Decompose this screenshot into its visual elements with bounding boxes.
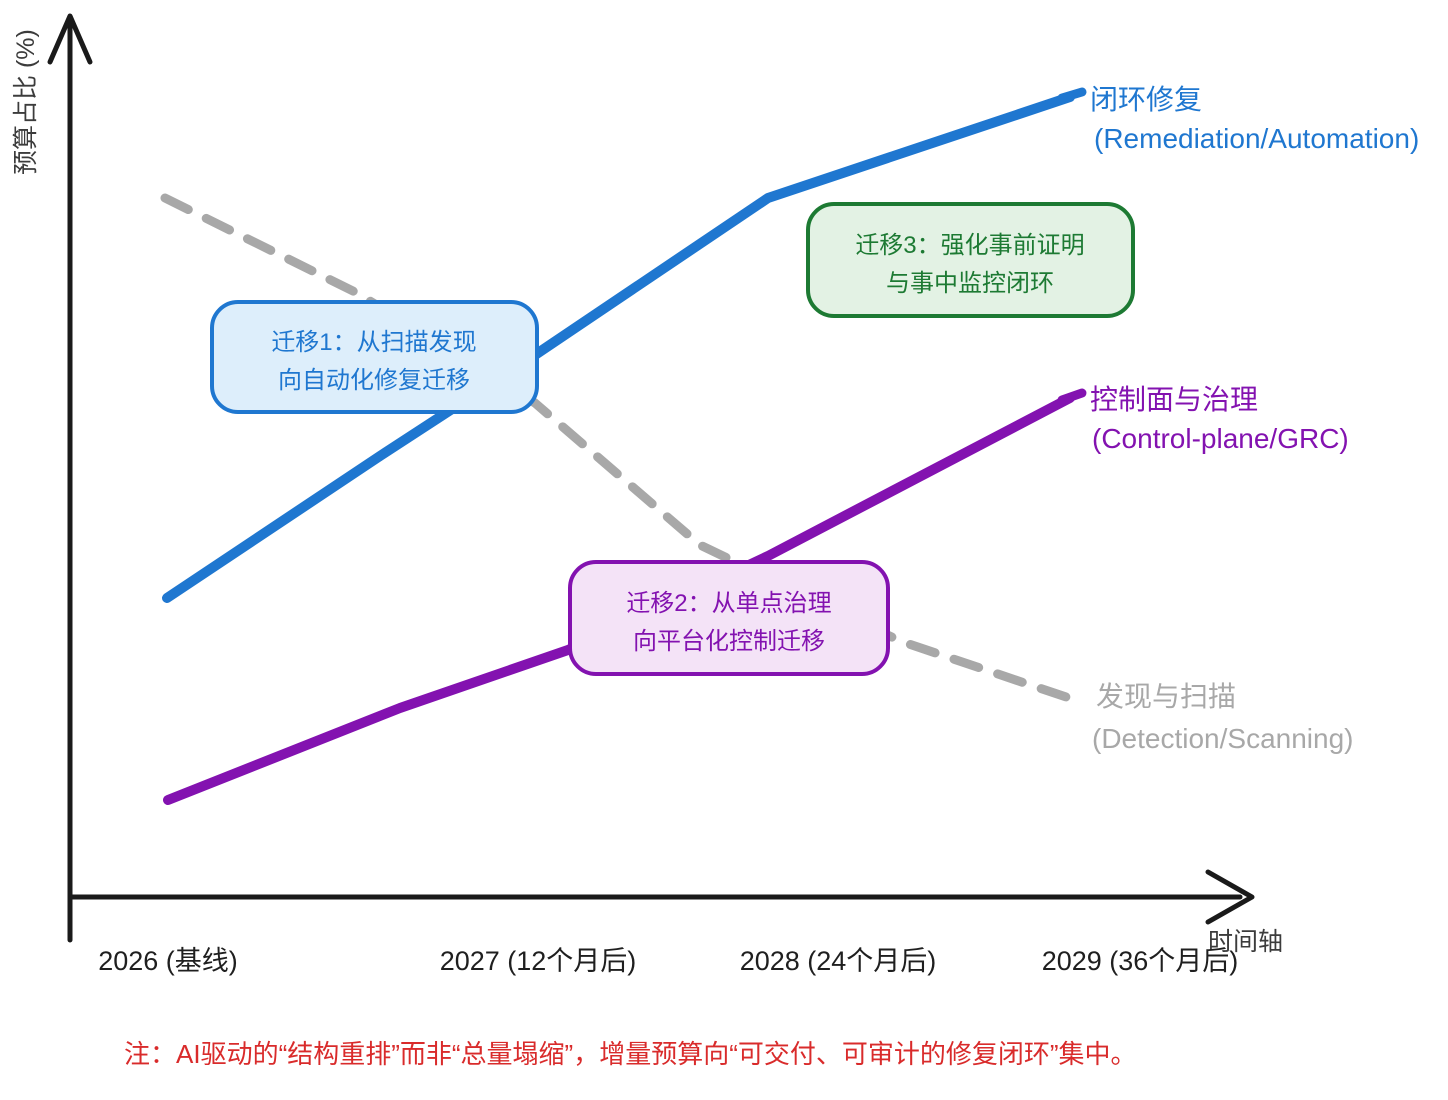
legend-label-control-plane-en: (Control-plane/GRC) [1092,423,1349,454]
callout-box-shift-2 [570,562,888,674]
callout-shift-1-line2: 向自动化修复迁移 [278,367,470,394]
legend-label-detection-cn: 发现与扫描 [1096,681,1236,712]
callout-shift-3-line2: 与事中监控闭环 [886,270,1054,297]
x-tick-label-2028: 2028 (24个月后) [740,946,937,976]
legend-swatch-control-plane [1062,393,1082,400]
x-tick-label-2027: 2027 (12个月后) [440,946,637,976]
legend-label-remediation-en: (Remediation/Automation) [1094,123,1419,154]
x-tick-label-2029: 2029 (36个月后) [1042,946,1239,976]
callout-shift-3-line1: 迁移3：强化事前证明 [855,232,1084,259]
callout-shift-2-line1: 迁移2：从单点治理 [626,590,831,617]
callout-shift-2-line2: 向平台化控制迁移 [633,628,825,655]
callout-box-shift-3 [808,204,1133,316]
chart-canvas: 预算占比 (%) 时间轴 2026 (基线) 2027 (12个月后) 2028… [0,0,1448,1100]
y-axis-title: 预算占比 (%) [12,29,40,175]
x-tick-label-2026: 2026 (基线) [98,946,238,976]
legend-label-control-plane-cn: 控制面与治理 [1090,384,1258,415]
legend-label-detection-en: (Detection/Scanning) [1092,723,1353,754]
callout-shift-1-line1: 迁移1：从扫描发现 [271,329,476,356]
footnote-text: 注：AI驱动的“结构重排”而非“总量塌缩”，增量预算向“可交付、可审计的修复闭环… [124,1039,1137,1069]
callout-box-shift-1 [212,302,537,412]
legend-swatch-remediation [1062,92,1082,98]
budget-shift-line-chart: 预算占比 (%) 时间轴 2026 (基线) 2027 (12个月后) 2028… [0,0,1448,1100]
legend-label-remediation-cn: 闭环修复 [1090,84,1202,115]
